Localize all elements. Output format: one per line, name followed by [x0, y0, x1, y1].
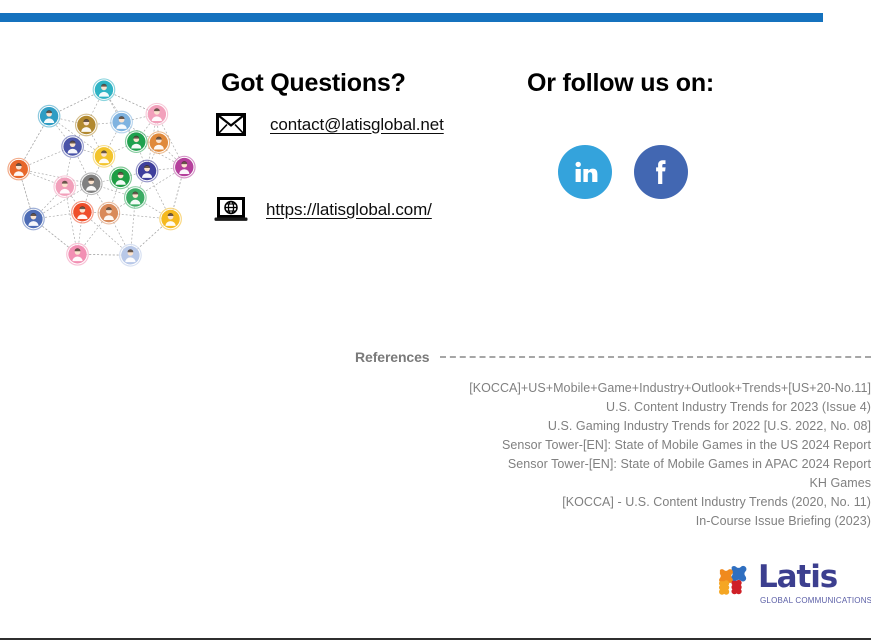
network-avatar: [38, 105, 60, 127]
network-avatar: [80, 173, 102, 195]
contact-email-row[interactable]: contact@latisglobal.net: [216, 113, 444, 136]
network-avatar: [146, 103, 168, 125]
reference-item: [KOCCA] - U.S. Content Industry Trends (…: [355, 493, 871, 512]
network-avatar: [72, 201, 94, 223]
network-avatar: [111, 111, 133, 133]
references-section: References [KOCCA]+US+Mobile+Game+Indust…: [355, 349, 871, 531]
reference-item: U.S. Gaming Industry Trends for 2022 [U.…: [355, 417, 871, 436]
network-svg: [6, 76, 198, 268]
network-avatar: [120, 244, 142, 266]
people-network-illustration: [6, 76, 198, 268]
facebook-icon[interactable]: [634, 145, 688, 199]
reference-item: U.S. Content Industry Trends for 2023 (I…: [355, 398, 871, 417]
network-avatar: [126, 131, 148, 153]
slide-canvas: Got Questions? Or follow us on: contact@…: [0, 0, 871, 643]
references-dashed-rule: [440, 356, 871, 358]
latis-logo-word: Latis: [758, 562, 871, 593]
references-list: [KOCCA]+US+Mobile+Game+Industry+Outlook+…: [355, 379, 871, 531]
latis-mark-icon: [715, 564, 755, 604]
website-link[interactable]: https://latisglobal.com/: [266, 200, 432, 220]
contact-website-row[interactable]: https://latisglobal.com/: [214, 197, 432, 223]
network-avatar: [62, 136, 84, 158]
top-accent-bar: [0, 13, 823, 22]
page-title-follow-us: Or follow us on:: [527, 69, 714, 98]
network-avatar: [54, 176, 76, 198]
latis-wordmark: Latis GLOBAL COMMUNICATIONS: [758, 562, 871, 605]
reference-item: [KOCCA]+US+Mobile+Game+Industry+Outlook+…: [355, 379, 871, 398]
social-links: [558, 145, 688, 199]
reference-item: Sensor Tower-[EN]: State of Mobile Games…: [355, 455, 871, 474]
network-avatar: [136, 160, 158, 182]
reference-item: In-Course Issue Briefing (2023): [355, 512, 871, 531]
linkedin-icon[interactable]: [558, 145, 612, 199]
network-avatar: [93, 79, 115, 101]
email-link[interactable]: contact@latisglobal.net: [270, 115, 444, 135]
network-avatar: [23, 208, 45, 230]
latis-logo: Latis GLOBAL COMMUNICATIONS: [715, 562, 871, 605]
network-avatar: [148, 132, 170, 154]
network-avatar: [8, 158, 30, 180]
reference-item: KH Games: [355, 474, 871, 493]
reference-item: Sensor Tower-[EN]: State of Mobile Games…: [355, 436, 871, 455]
network-avatar: [160, 208, 182, 230]
network-avatar: [125, 187, 147, 209]
latis-logo-tagline: GLOBAL COMMUNICATIONS: [760, 596, 871, 605]
laptop-globe-icon: [214, 197, 248, 223]
bottom-divider: [0, 638, 871, 640]
envelope-icon: [216, 113, 246, 136]
page-title-got-questions: Got Questions?: [221, 69, 406, 98]
references-title: References: [355, 349, 430, 365]
network-avatar: [67, 244, 89, 266]
network-avatar: [98, 202, 120, 224]
references-header: References: [355, 349, 871, 365]
network-avatar: [76, 114, 98, 136]
network-avatar: [110, 167, 132, 189]
network-avatar: [93, 146, 115, 168]
network-avatar: [174, 156, 196, 178]
